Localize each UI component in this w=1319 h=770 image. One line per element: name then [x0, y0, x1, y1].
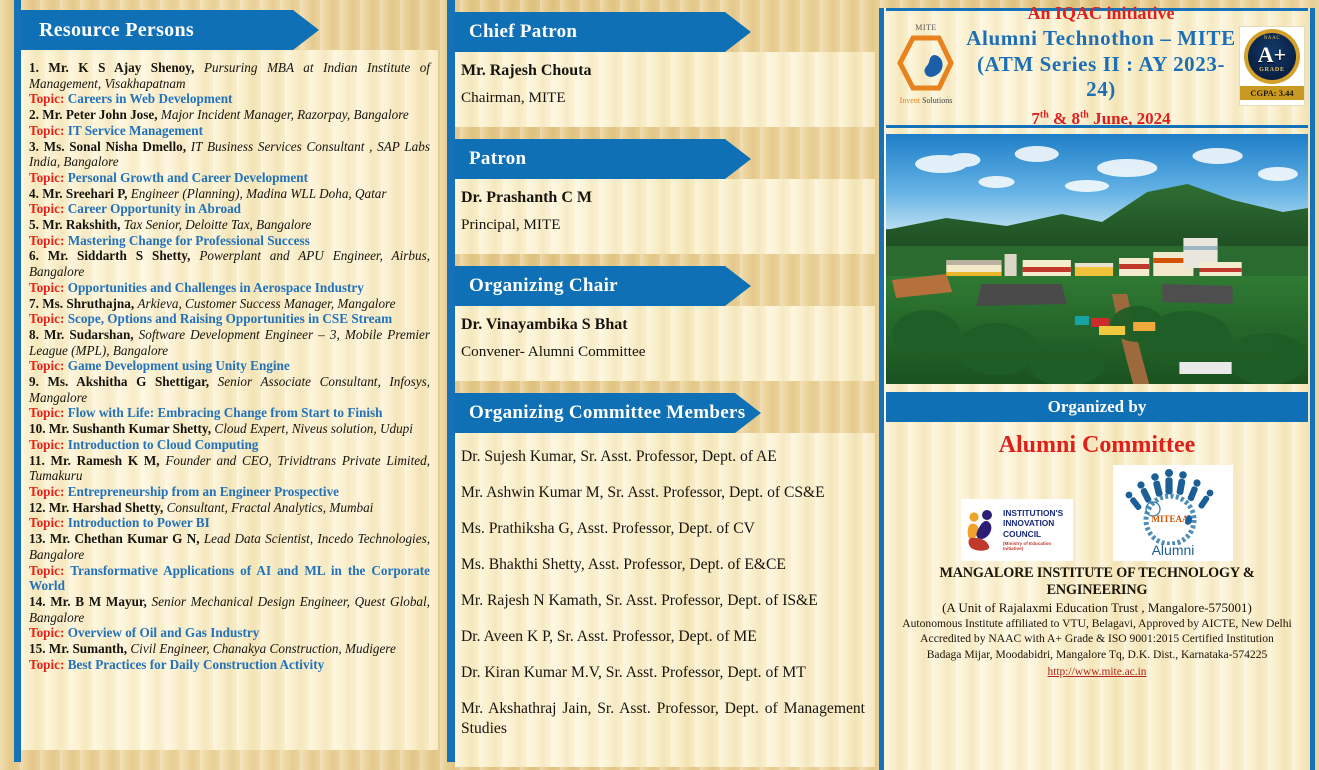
resource-person-entry: 12. Mr. Harshad Shetty, Consultant, Frac…	[29, 500, 430, 516]
patron-section-heading: Patron	[469, 148, 526, 170]
resource-person-topic-row: Topic: Opportunities and Challenges in A…	[29, 280, 430, 296]
event-date-month-year: June, 2024	[1089, 109, 1171, 128]
institute-address: Badaga Mijar, Moodabidri, Mangalore Tq, …	[890, 648, 1304, 662]
topic-label: Topic:	[29, 201, 68, 216]
miteaa-caption: Alumni	[1152, 542, 1195, 558]
iic-line-1: INSTITUTION'S	[1003, 508, 1069, 518]
resource-person-entry: 7. Ms. Shruthajna, Arkieva, Customer Suc…	[29, 296, 430, 312]
resource-person-topic-row: Topic: Scope, Options and Raising Opport…	[29, 311, 430, 327]
resource-person-name: 15. Mr. Sumanth,	[29, 641, 130, 656]
partner-logos: INSTITUTION'S INNOVATION COUNCIL (Minist…	[884, 465, 1310, 561]
mite-tagline-invent: Invent	[900, 96, 920, 105]
committee-heading-ribbon: Organizing Committee Members	[455, 393, 761, 433]
topic-value: Game Development using Unity Engine	[68, 358, 290, 373]
resource-person-affiliation: Major Incident Manager, Razorpay, Bangal…	[161, 107, 409, 122]
patron-section-ribbon: Patron	[455, 139, 751, 179]
topic-value: Flow with Life: Embracing Change from St…	[68, 405, 383, 420]
committee-member: Dr. Aveen K P, Sr. Asst. Professor, Dept…	[461, 627, 875, 647]
resource-person-affiliation: Cloud Expert, Niveus solution, Udupi	[214, 421, 413, 436]
iic-subtitle: (Ministry of Education Initiative)	[1003, 541, 1069, 552]
resource-person-topic-row: Topic: Introduction to Cloud Computing	[29, 437, 430, 453]
patron-section-heading: Chief Patron	[469, 21, 577, 43]
topic-label: Topic:	[29, 625, 68, 640]
topic-value: Introduction to Power BI	[68, 515, 210, 530]
patron-section-heading: Organizing Chair	[469, 275, 618, 297]
mite-logo-tagline: Invent Solutions	[889, 96, 963, 105]
event-title-line1: Alumni Technothon – MITE	[963, 26, 1239, 52]
naac-cgpa-value: CGPA: 3.44	[1240, 86, 1304, 100]
event-date-second-sup: th	[1080, 109, 1089, 120]
resource-person-entry: 15. Mr. Sumanth, Civil Engineer, Chanaky…	[29, 641, 430, 657]
resource-person-affiliation: Arkieva, Customer Success Manager, Manga…	[137, 296, 395, 311]
topic-label: Topic:	[29, 233, 68, 248]
event-dates: 7th & 8th June, 2024	[963, 109, 1239, 129]
resource-person-name: 5. Mr. Rakshith,	[29, 217, 124, 232]
patron-section-ribbon: Chief Patron	[455, 12, 751, 52]
resource-person-topic-row: Topic: IT Service Management	[29, 123, 430, 139]
resource-person-topic-row: Topic: Career Opportunity in Abroad	[29, 201, 430, 217]
resource-persons-heading-ribbon: Resource Persons	[21, 10, 319, 50]
campus-aerial-image	[886, 134, 1308, 384]
topic-value: Career Opportunity in Abroad	[68, 201, 241, 216]
naac-badge-label: NAAC	[1248, 36, 1296, 41]
topic-label: Topic:	[29, 280, 68, 295]
iic-line-3: COUNCIL	[1003, 529, 1069, 539]
resource-person-entry: 3. Ms. Sonal Nisha Dmello, IT Business S…	[29, 139, 430, 170]
resource-person-name: 8. Mr. Sudarshan,	[29, 327, 139, 342]
resource-person-entry: 11. Mr. Ramesh K M, Founder and CEO, Tri…	[29, 453, 430, 484]
resource-person-name: 3. Ms. Sonal Nisha Dmello,	[29, 139, 191, 154]
resource-person-entry: 2. Mr. Peter John Jose, Major Incident M…	[29, 107, 430, 123]
resource-person-affiliation: Civil Engineer, Chanakya Construction, M…	[130, 641, 395, 656]
resource-person-affiliation: Engineer (Planning), Madina WLL Doha, Qa…	[131, 186, 387, 201]
resource-person-entry: 9. Ms. Akshitha G Shettigar, Senior Asso…	[29, 374, 430, 405]
iic-people-icon	[965, 507, 999, 553]
event-header: MITE Invent Solutions An IQAC initiative…	[884, 11, 1310, 121]
naac-a-plus-badge: NAAC A+ GRADE CGPA: 3.44	[1239, 26, 1305, 106]
patron-section-body: Dr. Prashanth C MPrincipal, MITE	[455, 179, 875, 254]
topic-value: Opportunities and Challenges in Aerospac…	[68, 280, 364, 295]
resource-person-entry: 8. Mr. Sudarshan, Software Development E…	[29, 327, 430, 358]
miteaa-alumni-logo: MITEAA Alumni	[1113, 465, 1233, 561]
resource-person-topic-row: Topic: Entrepreneurship from an Engineer…	[29, 484, 430, 500]
patrons-column: Chief PatronMr. Rajesh ChoutaChairman, M…	[447, 0, 875, 762]
topic-value: Scope, Options and Raising Opportunities…	[68, 311, 392, 326]
committee-member: Dr. Kiran Kumar M.V, Sr. Asst. Professor…	[461, 663, 875, 683]
resource-person-name: 13. Mr. Chethan Kumar G N,	[29, 531, 204, 546]
resource-person-affiliation: Consultant, Fractal Analytics, Mumbai	[167, 500, 374, 515]
resource-person-topic-row: Topic: Game Development using Unity Engi…	[29, 358, 430, 374]
naac-grade-letter: A+	[1258, 44, 1286, 66]
event-title-block: An IQAC initiative Alumni Technothon – M…	[963, 3, 1239, 129]
committee-member: Dr. Sujesh Kumar, Sr. Asst. Professor, D…	[461, 447, 875, 467]
institute-unit: (A Unit of Rajalaxmi Education Trust , M…	[890, 600, 1304, 616]
patron-role: Convener- Alumni Committee	[461, 343, 875, 361]
resource-person-topic-row: Topic: Personal Growth and Career Develo…	[29, 170, 430, 186]
resource-person-name: 14. Mr. B M Mayur,	[29, 594, 152, 609]
resource-person-topic-row: Topic: Mastering Change for Professional…	[29, 233, 430, 249]
resource-persons-list: 1. Mr. K S Ajay Shenoy, Pursuring MBA at…	[21, 50, 438, 750]
topic-value: Transformative Applications of AI and ML…	[29, 563, 430, 594]
committee-heading: Organizing Committee Members	[469, 402, 745, 424]
topic-label: Topic:	[29, 484, 68, 499]
resource-person-entry: 6. Mr. Siddarth S Shetty, Powerplant and…	[29, 248, 430, 279]
event-info-panel: MITE Invent Solutions An IQAC initiative…	[879, 8, 1315, 770]
patron-role: Principal, MITE	[461, 216, 875, 234]
resource-person-name: 11. Mr. Ramesh K M,	[29, 453, 165, 468]
committee-member: Ms. Prathiksha G, Asst. Professor, Dept.…	[461, 519, 875, 539]
topic-value: Careers in Web Development	[68, 91, 233, 106]
mite-hexagon-icon	[895, 34, 955, 92]
topic-label: Topic:	[29, 657, 68, 672]
committee-member: Mr. Ashwin Kumar M, Sr. Asst. Professor,…	[461, 483, 875, 503]
resource-persons-column: Resource Persons 1. Mr. K S Ajay Shenoy,…	[0, 0, 447, 762]
topic-value: Overview of Oil and Gas Industry	[68, 625, 260, 640]
poster-root: Resource Persons 1. Mr. K S Ajay Shenoy,…	[0, 0, 1319, 762]
institute-accreditation-line1: Autonomous Institute affiliated to VTU, …	[890, 617, 1304, 631]
iic-logo-text: INSTITUTION'S INNOVATION COUNCIL (Minist…	[1003, 508, 1069, 552]
resource-person-topic-row: Topic: Flow with Life: Embracing Change …	[29, 405, 430, 421]
committee-members-list: Dr. Sujesh Kumar, Sr. Asst. Professor, D…	[455, 433, 875, 767]
left-column-blue-rule	[14, 0, 21, 762]
event-info-column: MITE Invent Solutions An IQAC initiative…	[875, 0, 1319, 762]
patron-role: Chairman, MITE	[461, 89, 875, 107]
topic-label: Topic:	[29, 123, 68, 138]
patron-section-ribbon: Organizing Chair	[455, 266, 751, 306]
resource-person-topic-row: Topic: Careers in Web Development	[29, 91, 430, 107]
resource-person-name: 1. Mr. K S Ajay Shenoy,	[29, 60, 204, 75]
topic-label: Topic:	[29, 170, 68, 185]
topic-label: Topic:	[29, 563, 70, 578]
resource-persons-heading: Resource Persons	[39, 19, 194, 42]
institute-name: MANGALORE INSTITUTE OF TECHNOLOGY & ENGI…	[890, 565, 1304, 599]
resource-person-topic-row: Topic: Overview of Oil and Gas Industry	[29, 625, 430, 641]
mid-column-blue-rule	[447, 0, 455, 762]
topic-label: Topic:	[29, 311, 68, 326]
event-date-first: 7	[1031, 109, 1040, 128]
resource-person-affiliation: Tax Senior, Deloitte Tax, Bangalore	[124, 217, 312, 232]
resource-person-topic-row: Topic: Introduction to Power BI	[29, 515, 430, 531]
mite-logo: MITE Invent Solutions	[889, 21, 963, 111]
iic-figure-icon	[965, 507, 999, 553]
topic-value: Introduction to Cloud Computing	[68, 437, 259, 452]
resource-person-name: 4. Mr. Sreehari P,	[29, 186, 131, 201]
resource-person-entry: 5. Mr. Rakshith, Tax Senior, Deloitte Ta…	[29, 217, 430, 233]
miteaa-people-ring-icon: MITEAA	[1113, 465, 1233, 545]
resource-person-topic-row: Topic: Transformative Applications of AI…	[29, 563, 430, 594]
naac-badge-disc: NAAC A+ GRADE	[1244, 29, 1300, 84]
patrons-sections: Chief PatronMr. Rajesh ChoutaChairman, M…	[455, 12, 875, 767]
patron-name: Mr. Rajesh Chouta	[461, 62, 875, 80]
organizer-name: Alumni Committee	[884, 432, 1310, 459]
topic-label: Topic:	[29, 515, 68, 530]
committee-member: Ms. Bhakthi Shetty, Asst. Professor, Dep…	[461, 555, 875, 575]
resource-person-name: 6. Mr. Siddarth S Shetty,	[29, 248, 199, 263]
resource-person-name: 12. Mr. Harshad Shetty,	[29, 500, 167, 515]
topic-label: Topic:	[29, 358, 68, 373]
campus-photo	[886, 134, 1308, 384]
institute-accreditation-line2: Accredited by NAAC with A+ Grade & ISO 9…	[890, 632, 1304, 646]
organized-by-band: Organized by	[886, 392, 1308, 422]
patron-name: Dr. Vinayambika S Bhat	[461, 316, 875, 334]
iic-line-2: INNOVATION	[1003, 518, 1069, 528]
topic-label: Topic:	[29, 405, 68, 420]
topic-value: Best Practices for Daily Construction Ac…	[68, 657, 325, 672]
topic-value: Entrepreneurship from an Engineer Prospe…	[68, 484, 339, 499]
topic-value: IT Service Management	[68, 123, 203, 138]
miteaa-ring-label: MITEAA	[1151, 514, 1189, 524]
committee-member: Mr. Akshathraj Jain, Sr. Asst. Professor…	[461, 699, 875, 739]
resource-person-entry: 4. Mr. Sreehari P, Engineer (Planning), …	[29, 186, 430, 202]
patron-section-body: Mr. Rajesh ChoutaChairman, MITE	[455, 52, 875, 127]
resource-person-name: 10. Mr. Sushanth Kumar Shetty,	[29, 421, 214, 436]
institute-footer: MANGALORE INSTITUTE OF TECHNOLOGY & ENGI…	[884, 561, 1310, 680]
resource-person-topic-row: Topic: Best Practices for Daily Construc…	[29, 657, 430, 673]
resource-person-entry: 10. Mr. Sushanth Kumar Shetty, Cloud Exp…	[29, 421, 430, 437]
topic-label: Topic:	[29, 437, 68, 452]
event-date-separator: & 8	[1049, 109, 1080, 128]
topic-label: Topic:	[29, 91, 68, 106]
patron-name: Dr. Prashanth C M	[461, 189, 875, 207]
resource-person-entry: 14. Mr. B M Mayur, Senior Mechanical Des…	[29, 594, 430, 625]
mite-logo-top-text: MITE	[889, 23, 963, 32]
institutions-innovation-council-logo: INSTITUTION'S INNOVATION COUNCIL (Minist…	[961, 499, 1073, 561]
event-date-first-sup: th	[1040, 109, 1049, 120]
resource-person-name: 9. Ms. Akshitha G Shettigar,	[29, 374, 218, 389]
iqac-initiative-line: An IQAC initiative	[963, 3, 1239, 24]
committee-member: Mr. Rajesh N Kamath, Sr. Asst. Professor…	[461, 591, 875, 611]
event-title-line2: (ATM Series II : AY 2023-24)	[963, 52, 1239, 103]
naac-grade-word: GRADE	[1259, 67, 1285, 73]
institute-website-link[interactable]: http://www.mite.ac.in	[1048, 666, 1147, 678]
topic-value: Personal Growth and Career Development	[68, 170, 308, 185]
mite-tagline-solutions: Solutions	[920, 96, 952, 105]
resource-person-entry: 13. Mr. Chethan Kumar G N, Lead Data Sci…	[29, 531, 430, 562]
topic-value: Mastering Change for Professional Succes…	[68, 233, 310, 248]
resource-person-entry: 1. Mr. K S Ajay Shenoy, Pursuring MBA at…	[29, 60, 430, 91]
resource-person-name: 7. Ms. Shruthajna,	[29, 296, 137, 311]
patron-section-body: Dr. Vinayambika S BhatConvener- Alumni C…	[455, 306, 875, 381]
resource-person-name: 2. Mr. Peter John Jose,	[29, 107, 161, 122]
